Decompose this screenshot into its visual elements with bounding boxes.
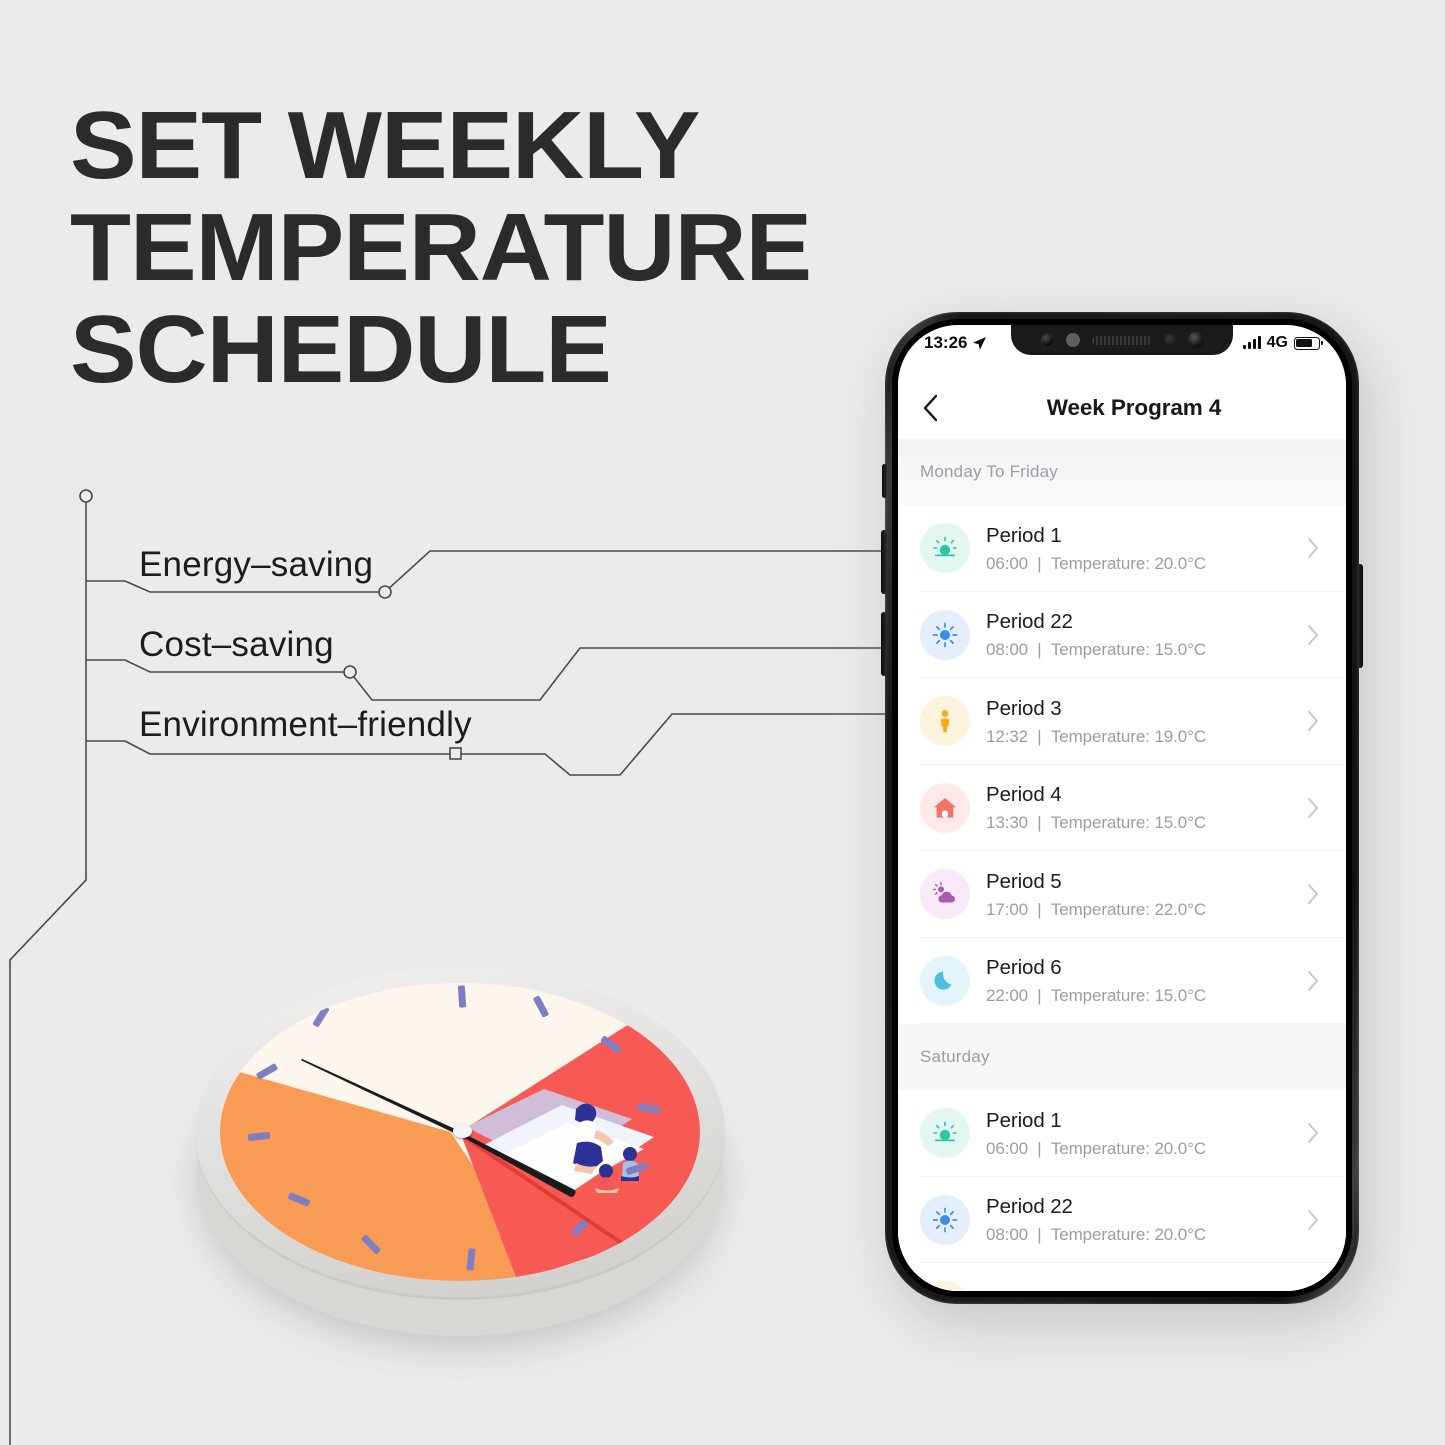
- trunk-line: [10, 496, 86, 1445]
- period-title: Period 6: [986, 955, 1302, 981]
- silent-switch[interactable]: [882, 464, 887, 498]
- volume-down-button[interactable]: [881, 612, 887, 676]
- node-energy-saving: [379, 586, 391, 598]
- row-text: Period 3 12:32 | Temperature: 19.0°C: [986, 696, 1302, 747]
- status-bar-right: 4G: [1243, 334, 1320, 352]
- period-title: Period 3: [986, 696, 1302, 722]
- period-title: Period 5: [986, 869, 1302, 895]
- node-trunk-top: [80, 490, 92, 502]
- node-environment-friendly: [450, 748, 461, 759]
- power-button[interactable]: [1357, 564, 1363, 668]
- earpiece-speaker-icon: [1092, 336, 1152, 345]
- row-text: Period 22 08:00 | Temperature: 15.0°C: [986, 609, 1302, 660]
- feature-label-cost-saving: Cost–saving: [139, 625, 334, 665]
- period-detail: 12:32 | Temperature: 19.0°C: [986, 727, 1302, 747]
- section-header-weekdays: Monday To Friday: [898, 439, 1346, 505]
- chevron-right-icon: [1302, 883, 1324, 905]
- schedule-list[interactable]: Monday To Friday: [898, 439, 1346, 1291]
- phone-screen: 13:26 4G: [898, 325, 1346, 1291]
- chevron-right-icon: [1302, 710, 1324, 732]
- node-cost-saving: [344, 666, 356, 678]
- app-navigation-bar: Week Program 4: [898, 377, 1346, 439]
- sun-cloud-icon: [920, 869, 970, 919]
- battery-icon: [1294, 337, 1320, 350]
- proximity-sensor-icon: [1066, 333, 1080, 347]
- front-camera-icon: [1041, 334, 1054, 347]
- row-text: Period 5 17:00 | Temperature: 22.0°C: [986, 869, 1302, 920]
- phone-notch: [1011, 325, 1233, 355]
- table-row[interactable]: Period 4 13:30 | Temperature: 15.0°C: [898, 765, 1346, 852]
- phone-frame: 13:26 4G: [885, 312, 1359, 1304]
- table-row[interactable]: Period 22 08:00 | Temperature: 15.0°C: [898, 592, 1346, 679]
- phone-mockup: 13:26 4G: [885, 312, 1373, 1312]
- chevron-right-icon: [1302, 624, 1324, 646]
- person-icon: [920, 1281, 970, 1291]
- table-row[interactable]: Period 1 06:00 | Temperature: 20.0°C: [898, 505, 1346, 592]
- sunrise-icon: [920, 1108, 970, 1158]
- period-detail: 06:00 | Temperature: 20.0°C: [986, 554, 1302, 574]
- network-label: 4G: [1267, 334, 1288, 352]
- period-title: Period 4: [986, 782, 1302, 808]
- period-title: Period 1: [986, 523, 1302, 549]
- table-row[interactable]: Period 6 22:00 | Temperature: 15.0°C: [898, 938, 1346, 1025]
- row-text: Period 22 08:00 | Temperature: 20.0°C: [986, 1194, 1302, 1245]
- chevron-right-icon: [1302, 1209, 1324, 1231]
- status-bar-left: 13:26: [924, 333, 987, 353]
- location-arrow-icon: [972, 336, 987, 351]
- section-header-saturday: Saturday: [898, 1024, 1346, 1090]
- sun-icon: [920, 610, 970, 660]
- volume-up-button[interactable]: [881, 530, 887, 594]
- chevron-right-icon: [1302, 537, 1324, 559]
- signal-bars-icon: [1243, 337, 1261, 349]
- moon-icon: [920, 956, 970, 1006]
- clock-face: [220, 983, 700, 1281]
- table-row[interactable]: Period 1 06:00 | Temperature: 20.0°C: [898, 1090, 1346, 1177]
- period-detail: 22:00 | Temperature: 15.0°C: [986, 986, 1302, 1006]
- table-row[interactable]: Period 3 12:32 | Temperature: 19.0°C: [898, 678, 1346, 765]
- clock-tick: [458, 985, 467, 1007]
- page-title-line-1: SET WEEKLY TEMPERATURE: [70, 92, 811, 301]
- period-detail: 08:00 | Temperature: 20.0°C: [986, 1225, 1302, 1245]
- wall-clock-illustration: [185, 965, 735, 1385]
- chevron-right-icon: [1302, 970, 1324, 992]
- sun-icon: [920, 1195, 970, 1245]
- row-text: Period 1 06:00 | Temperature: 20.0°C: [986, 1108, 1302, 1159]
- period-detail: 13:30 | Temperature: 15.0°C: [986, 813, 1302, 833]
- row-text: Period 1 06:00 | Temperature: 20.0°C: [986, 523, 1302, 574]
- period-detail: 17:00 | Temperature: 22.0°C: [986, 900, 1302, 920]
- person-icon: [920, 696, 970, 746]
- period-title: Period 22: [986, 609, 1302, 635]
- screen-title: Week Program 4: [922, 395, 1346, 421]
- chevron-right-icon: [1302, 1122, 1324, 1144]
- row-text: Period 6 22:00 | Temperature: 15.0°C: [986, 955, 1302, 1006]
- chevron-right-icon: [1302, 797, 1324, 819]
- sunrise-icon: [920, 523, 970, 573]
- period-detail: 06:00 | Temperature: 20.0°C: [986, 1139, 1302, 1159]
- feature-label-energy-saving: Energy–saving: [139, 545, 373, 585]
- house-icon: [920, 783, 970, 833]
- period-title: Period 1: [986, 1108, 1302, 1134]
- ambient-light-sensor-icon: [1164, 334, 1176, 346]
- table-row[interactable]: Period 3: [898, 1263, 1346, 1291]
- period-detail: 08:00 | Temperature: 15.0°C: [986, 640, 1302, 660]
- table-row[interactable]: Period 22 08:00 | Temperature: 20.0°C: [898, 1177, 1346, 1264]
- table-row[interactable]: Period 5 17:00 | Temperature: 22.0°C: [898, 851, 1346, 938]
- feature-label-environment-friendly: Environment–friendly: [139, 705, 472, 745]
- clock-center-cap: [453, 1124, 472, 1138]
- period-title: Period 22: [986, 1194, 1302, 1220]
- status-time: 13:26: [924, 333, 967, 353]
- row-text: Period 4 13:30 | Temperature: 15.0°C: [986, 782, 1302, 833]
- infrared-camera-icon: [1188, 332, 1204, 348]
